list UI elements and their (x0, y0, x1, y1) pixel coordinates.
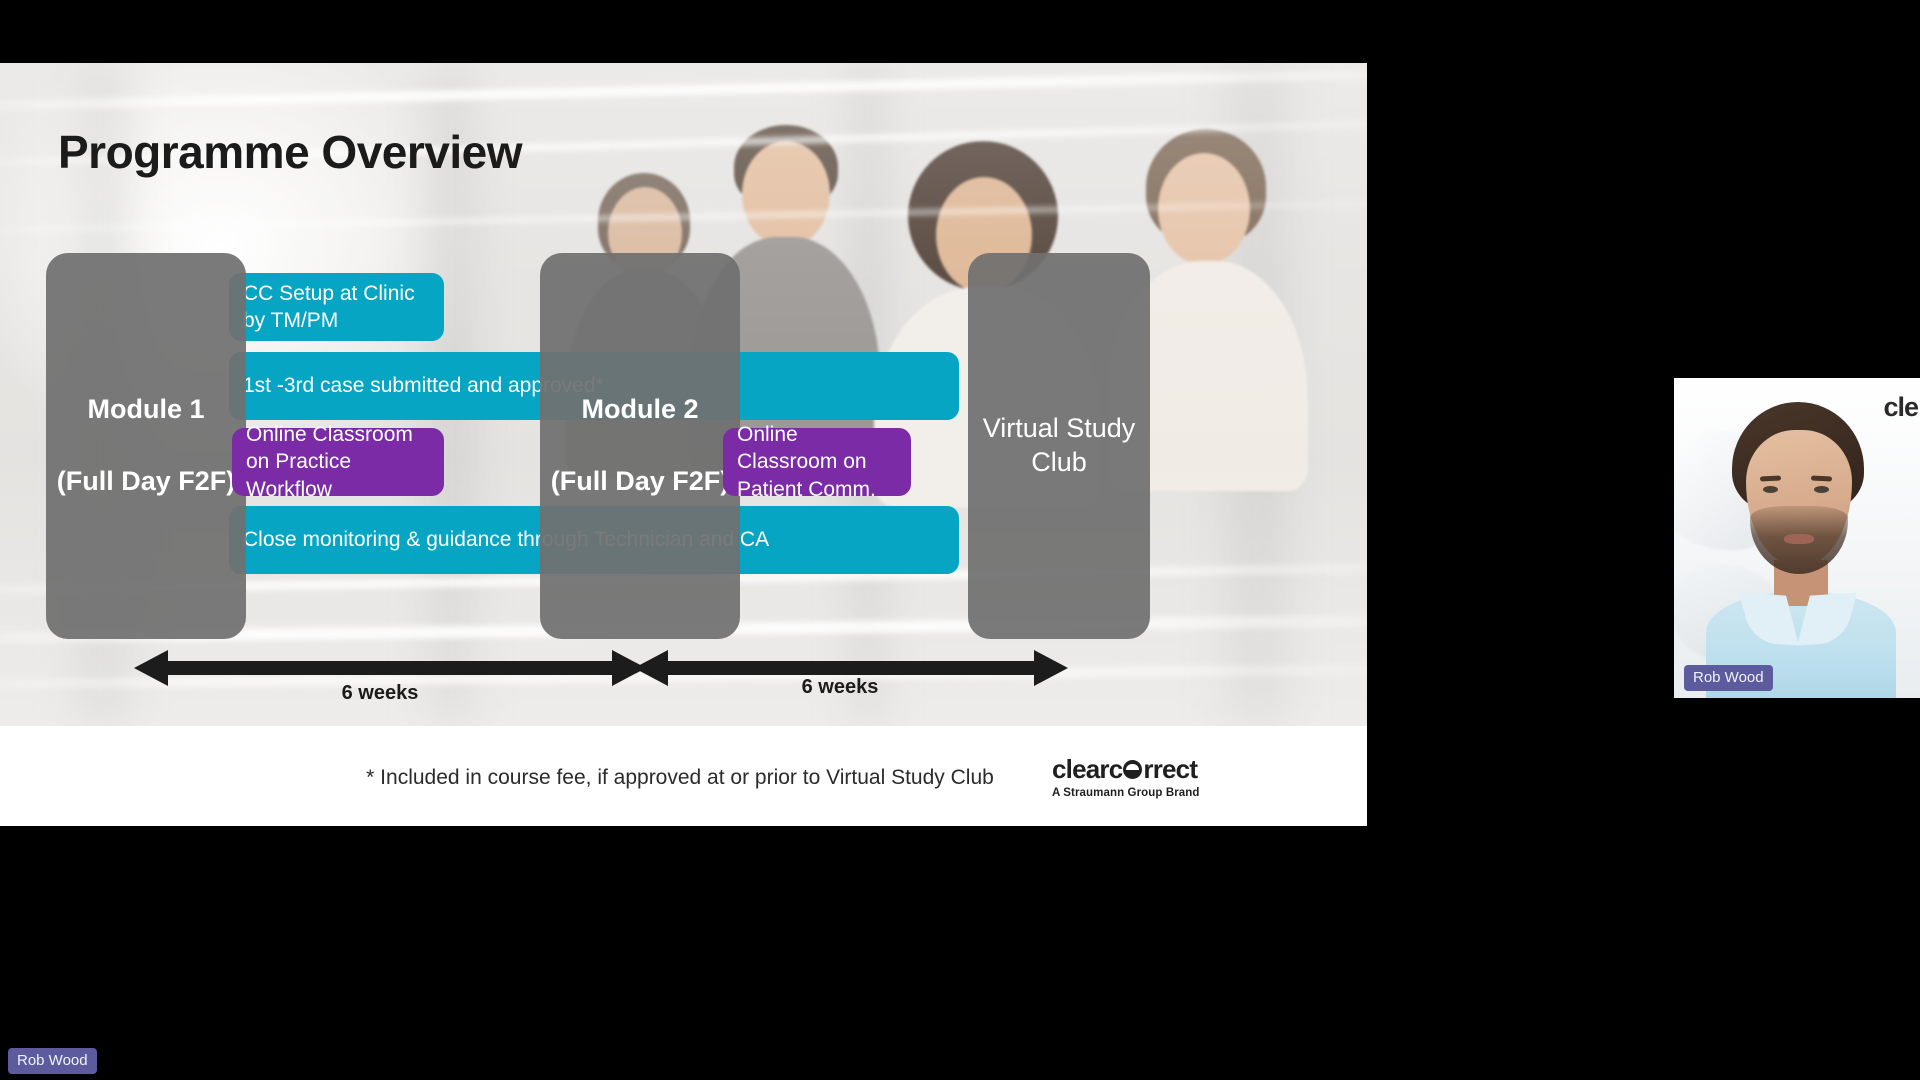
participant-video-tile[interactable]: cle (1674, 378, 1920, 698)
logo-o-glyph-icon (1123, 760, 1142, 779)
shared-slide: Programme Overview CC Setup at Clinic by… (0, 63, 1367, 826)
task-bar-online-classroom-patient-comm: Online Classroom on Patient Comm. (723, 428, 911, 496)
logo-word-part-1: clearc (1052, 756, 1122, 782)
pillar-title: Module 2 (581, 393, 698, 427)
pillar-module-1: Module 1 (Full Day F2F) (46, 253, 246, 639)
task-bar-cc-setup: CC Setup at Clinic by TM/PM (229, 273, 444, 341)
task-bar-label: Online Classroom on Practice Workflow (246, 421, 430, 503)
task-bar-online-classroom-workflow: Online Classroom on Practice Workflow (232, 428, 444, 496)
participant-eye-right (1814, 486, 1829, 493)
video-background-brandmark: cle (1883, 392, 1918, 423)
pillar-module-2: Module 2 (Full Day F2F) (540, 253, 740, 639)
pillar-subtitle: (Full Day F2F) (551, 465, 730, 499)
participant-eye-left (1763, 486, 1778, 493)
timeline: 6 weeks 6 weeks (0, 638, 1367, 728)
active-speaker-name-badge: Rob Wood (8, 1048, 97, 1074)
pillar-title: Module 1 (87, 393, 204, 427)
logo-tagline: A Straumann Group Brand (1052, 787, 1200, 799)
task-bar-label: Online Classroom on Patient Comm. (737, 421, 897, 503)
pillar-title: Virtual Study Club (968, 412, 1150, 480)
footnote-text: * Included in course fee, if approved at… (300, 766, 1060, 790)
timeline-label-segment-2: 6 weeks (760, 676, 920, 699)
participant-mouth (1784, 534, 1814, 544)
participant-eyebrow-right (1811, 475, 1832, 481)
logo-word-part-2: rrect (1143, 756, 1197, 782)
task-bar-label: CC Setup at Clinic by TM/PM (243, 280, 430, 335)
timeline-arrows-icon (0, 638, 1367, 698)
pillar-subtitle: (Full Day F2F) (57, 465, 236, 499)
timeline-label-segment-1: 6 weeks (300, 682, 460, 705)
pillar-virtual-study-club: Virtual Study Club (968, 253, 1150, 639)
clearcorrect-logo: clearcrrect A Straumann Group Brand (1052, 756, 1200, 799)
slide-footer: * Included in course fee, if approved at… (0, 726, 1367, 826)
page-title: Programme Overview (58, 125, 522, 179)
meeting-stage: Programme Overview CC Setup at Clinic by… (0, 0, 1920, 1080)
logo-wordmark: clearcrrect (1052, 756, 1200, 782)
participant-name-badge: Rob Wood (1684, 665, 1773, 691)
